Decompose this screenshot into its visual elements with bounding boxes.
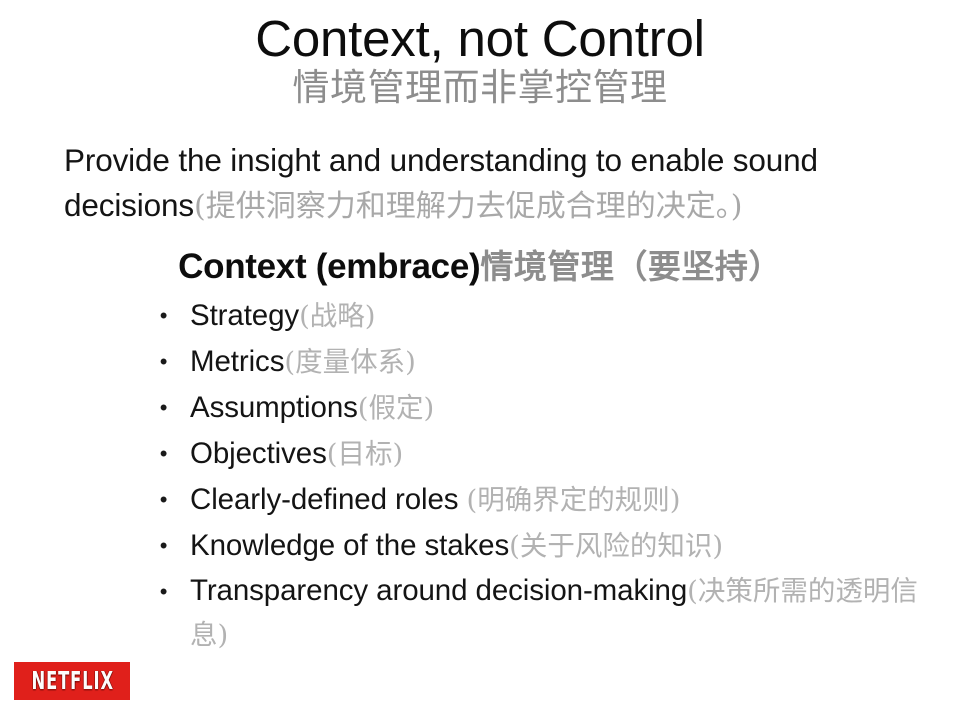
list-item-english: Strategy — [190, 299, 299, 332]
bullet-dot-icon: • — [159, 477, 168, 523]
bullet-dot-icon: • — [159, 569, 168, 615]
list-item-chinese: (度量体系) — [284, 346, 415, 378]
list-item: •Transparency around decision-making(决策所… — [152, 569, 942, 657]
list-item-english: Objectives — [190, 437, 327, 470]
list-item-english: Assumptions — [190, 391, 358, 424]
list-item-english: Clearly-defined roles — [190, 483, 467, 516]
netflix-wordmark: NETFLIX — [30, 669, 113, 694]
section-heading-chinese: 情境管理（要坚持） — [480, 248, 782, 285]
lead-paragraph: Provide the insight and understanding to… — [64, 138, 936, 228]
list-item-chinese: (明确界定的规则) — [467, 484, 681, 516]
title-block: Context, not Control 情境管理而非掌控管理 — [0, 12, 960, 108]
bullet-dot-icon: • — [159, 339, 168, 385]
list-item: •Clearly-defined roles (明确界定的规则) — [152, 477, 942, 523]
bullet-list: •Strategy(战略) •Metrics(度量体系) •Assumption… — [152, 293, 942, 657]
list-item: •Metrics(度量体系) — [152, 339, 942, 385]
bullet-dot-icon: • — [159, 431, 168, 477]
list-item: •Knowledge of the stakes(关于风险的知识) — [152, 523, 942, 569]
list-item-english: Transparency around decision-making — [190, 574, 687, 607]
section-heading: Context (embrace)情境管理（要坚持） — [0, 240, 960, 288]
list-item: •Assumptions(假定) — [152, 385, 942, 431]
page-title-chinese: 情境管理而非掌控管理 — [0, 67, 960, 108]
slide-canvas: Context, not Control 情境管理而非掌控管理 Provide … — [0, 0, 960, 720]
bullet-dot-icon: • — [159, 293, 168, 339]
bullet-dot-icon: • — [159, 523, 168, 569]
page-title: Context, not Control — [0, 12, 960, 66]
list-item-chinese: (假定) — [358, 392, 434, 424]
list-item-english: Knowledge of the stakes — [190, 529, 509, 562]
section-heading-english: Context (embrace) — [178, 247, 480, 286]
list-item-chinese: (关于风险的知识) — [509, 530, 723, 562]
bullet-dot-icon: • — [159, 385, 168, 431]
netflix-logo: NETFLIX — [14, 662, 130, 700]
list-item-chinese: (战略) — [299, 300, 375, 332]
lead-paragraph-chinese: (提供洞察力和理解力去促成合理的决定。) — [194, 189, 742, 224]
list-item-english: Metrics — [190, 345, 284, 378]
list-item-chinese: (目标) — [327, 438, 403, 470]
list-item: •Objectives(目标) — [152, 431, 942, 477]
list-item: •Strategy(战略) — [152, 293, 942, 339]
